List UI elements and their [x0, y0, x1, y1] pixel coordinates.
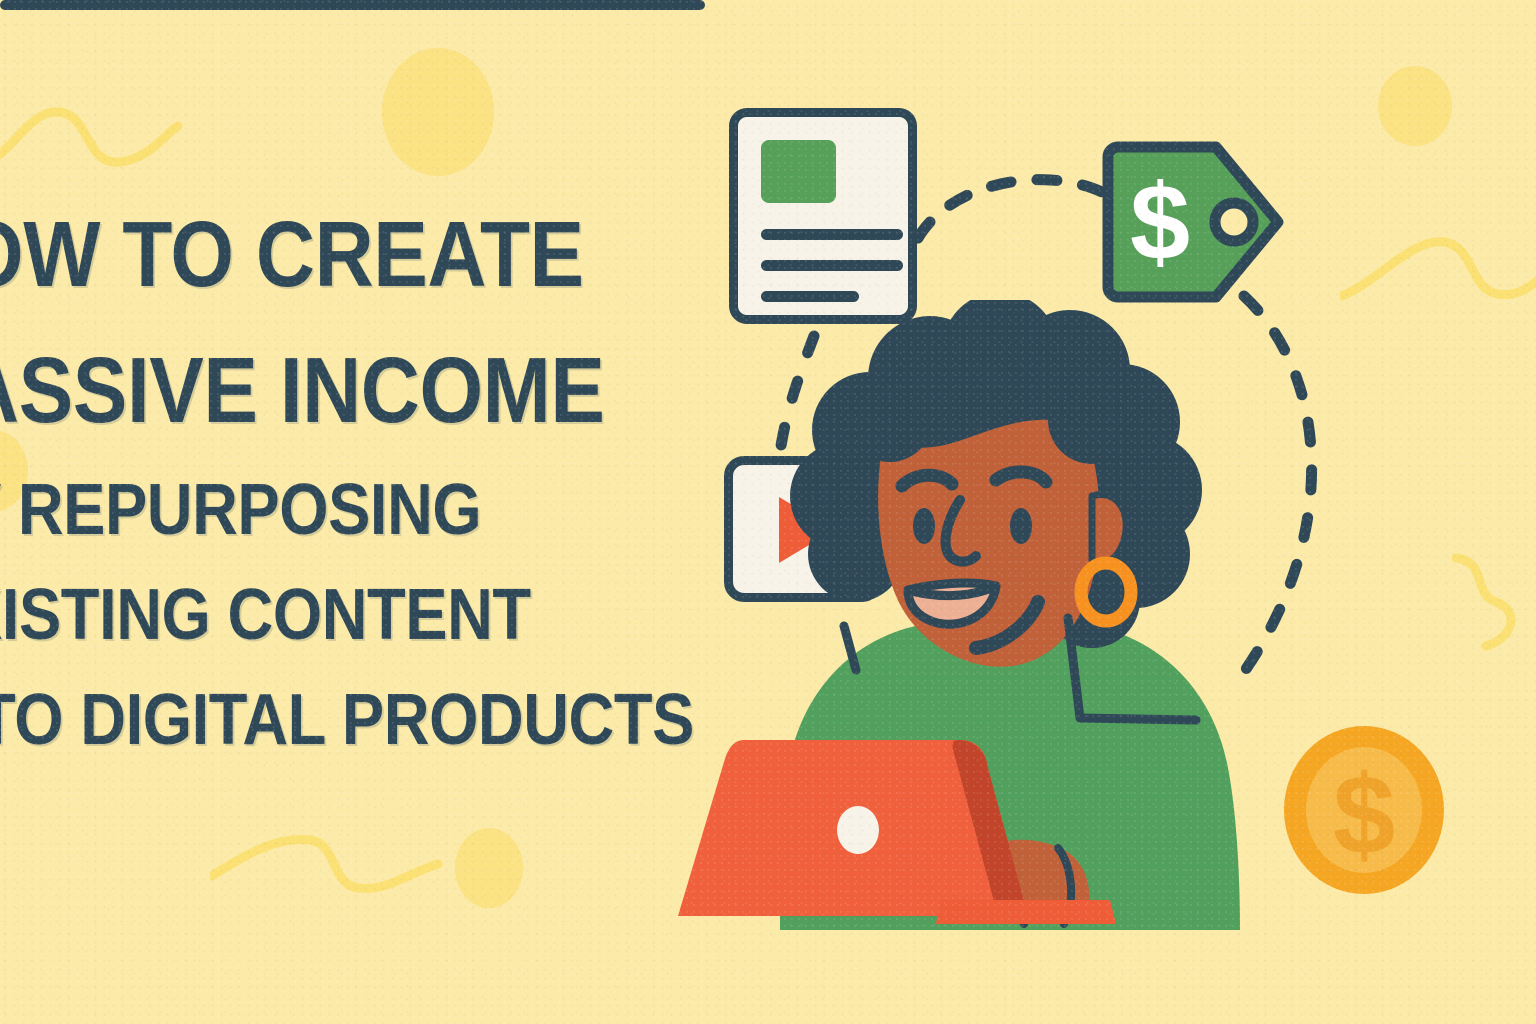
eye-left	[913, 508, 935, 544]
desk-line	[0, 0, 705, 10]
document-text-line	[761, 229, 903, 240]
laptop-base	[936, 900, 1116, 924]
headline-block: OW TO CREATE ASSIVE INCOME Y REPURPOSING…	[0, 186, 780, 773]
headline-sub-line-3: ITO DIGITAL PRODUCTS	[0, 668, 682, 773]
connector-doc-to-tag	[912, 140, 1112, 250]
eye-right	[1010, 508, 1032, 544]
coin-dollar-symbol: $	[1333, 752, 1395, 877]
deco-squiggle-top-left	[0, 90, 220, 170]
illustration-canvas: OW TO CREATE ASSIVE INCOME Y REPURPOSING…	[0, 0, 1536, 1024]
headline-line-1: OW TO CREATE	[0, 186, 682, 322]
headline-sub-line-2: XISTING CONTENT	[0, 563, 682, 668]
deco-squiggle-bottom-left	[210, 830, 460, 910]
ear	[1092, 495, 1126, 564]
deco-blob-top-right	[1378, 66, 1452, 146]
headline-line-2: ASSIVE INCOME	[0, 322, 682, 458]
price-tag-icon[interactable]: $	[1098, 137, 1288, 307]
coin-icon: $	[1283, 725, 1446, 895]
sleeve-line-right-horizontal	[1080, 718, 1196, 720]
laptop-logo-icon	[837, 806, 879, 854]
document-text-line	[761, 260, 903, 271]
price-tag-dollar-symbol: $	[1130, 161, 1190, 282]
headline-sub-line-1: Y REPURPOSING	[0, 458, 682, 563]
deco-squiggle-top-right	[1340, 218, 1536, 308]
deco-blob-top-left	[382, 48, 494, 176]
deco-blob-bottom-left	[455, 828, 523, 908]
deco-squiggle-mid-right	[1452, 546, 1536, 656]
